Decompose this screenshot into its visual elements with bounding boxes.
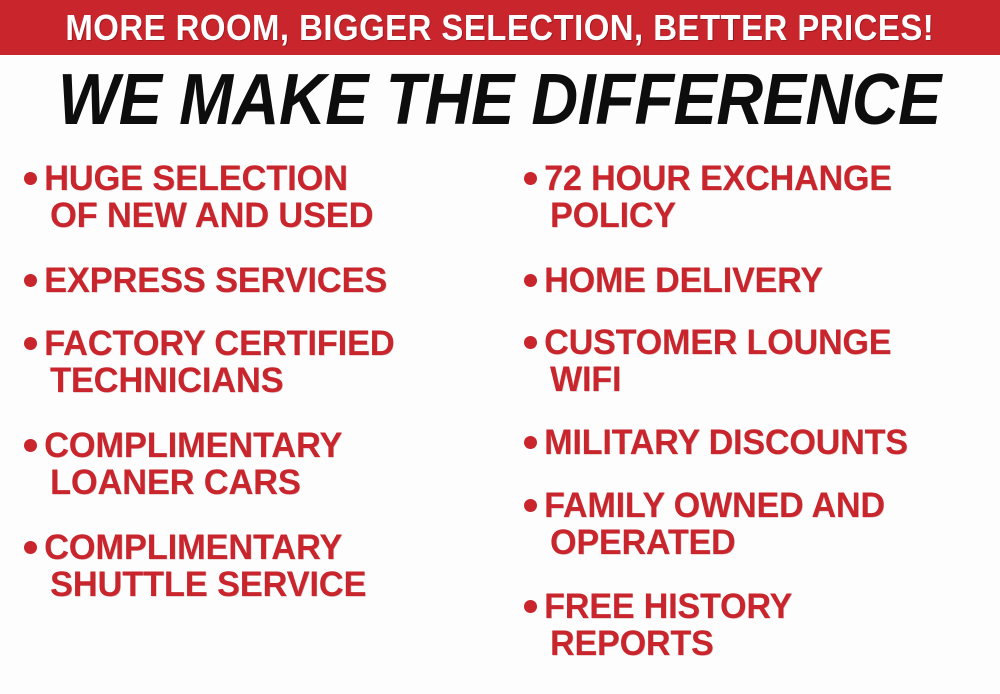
bullet-dot-icon: [524, 274, 537, 287]
list-item: CUSTOMER LOUNGE WIFI: [518, 324, 1000, 398]
list-item-label: 72 HOUR EXCHANGE POLICY: [550, 160, 989, 234]
main-headline: WE MAKE THE DIFFERENCE: [0, 62, 1000, 138]
list-item-label: EXPRESS SERVICES: [50, 262, 493, 299]
benefits-columns: HUGE SELECTION OF NEW AND USED EXPRESS S…: [0, 160, 1000, 694]
list-item: FAMILY OWNED AND OPERATED: [518, 487, 1000, 561]
banner-headline-text: MORE ROOM, BIGGER SELECTION, BETTER PRIC…: [66, 9, 935, 47]
list-item: FREE HISTORY REPORTS: [518, 588, 1000, 662]
main-headline-text: WE MAKE THE DIFFERENCE: [59, 62, 942, 138]
list-item-label: FAMILY OWNED AND OPERATED: [550, 487, 989, 561]
list-item: MILITARY DISCOUNTS: [518, 424, 1000, 461]
bullet-dot-icon: [524, 600, 537, 613]
bullet-dot-icon: [524, 172, 537, 185]
promotional-poster: MORE ROOM, BIGGER SELECTION, BETTER PRIC…: [0, 0, 1000, 694]
list-item: COMPLIMENTARY LOANER CARS: [18, 427, 500, 501]
bullet-dot-icon: [524, 499, 537, 512]
list-item: EXPRESS SERVICES: [18, 262, 500, 299]
bullet-dot-icon: [24, 172, 37, 185]
list-item: 72 HOUR EXCHANGE POLICY: [518, 160, 1000, 234]
bullet-dot-icon: [24, 439, 37, 452]
list-item-label: FACTORY CERTIFIED TECHNICIANS: [50, 325, 493, 399]
bullet-dot-icon: [24, 274, 37, 287]
list-item-label: COMPLIMENTARY SHUTTLE SERVICE: [50, 529, 493, 603]
bullet-dot-icon: [524, 336, 537, 349]
list-item: HUGE SELECTION OF NEW AND USED: [18, 160, 500, 234]
list-item-label: CUSTOMER LOUNGE WIFI: [550, 324, 989, 398]
list-item: HOME DELIVERY: [518, 262, 1000, 299]
top-banner: MORE ROOM, BIGGER SELECTION, BETTER PRIC…: [0, 0, 1000, 55]
list-item-label: MILITARY DISCOUNTS: [550, 424, 989, 461]
benefits-column-left: HUGE SELECTION OF NEW AND USED EXPRESS S…: [18, 160, 500, 625]
list-item-label: COMPLIMENTARY LOANER CARS: [50, 427, 493, 501]
list-item: COMPLIMENTARY SHUTTLE SERVICE: [18, 529, 500, 603]
list-item-label: HOME DELIVERY: [550, 262, 989, 299]
bullet-dot-icon: [524, 436, 537, 449]
benefits-column-right: 72 HOUR EXCHANGE POLICY HOME DELIVERY CU…: [518, 160, 1000, 684]
list-item-label: HUGE SELECTION OF NEW AND USED: [50, 160, 493, 234]
bullet-dot-icon: [24, 541, 37, 554]
list-item-label: FREE HISTORY REPORTS: [550, 588, 989, 662]
bullet-dot-icon: [24, 337, 37, 350]
list-item: FACTORY CERTIFIED TECHNICIANS: [18, 325, 500, 399]
